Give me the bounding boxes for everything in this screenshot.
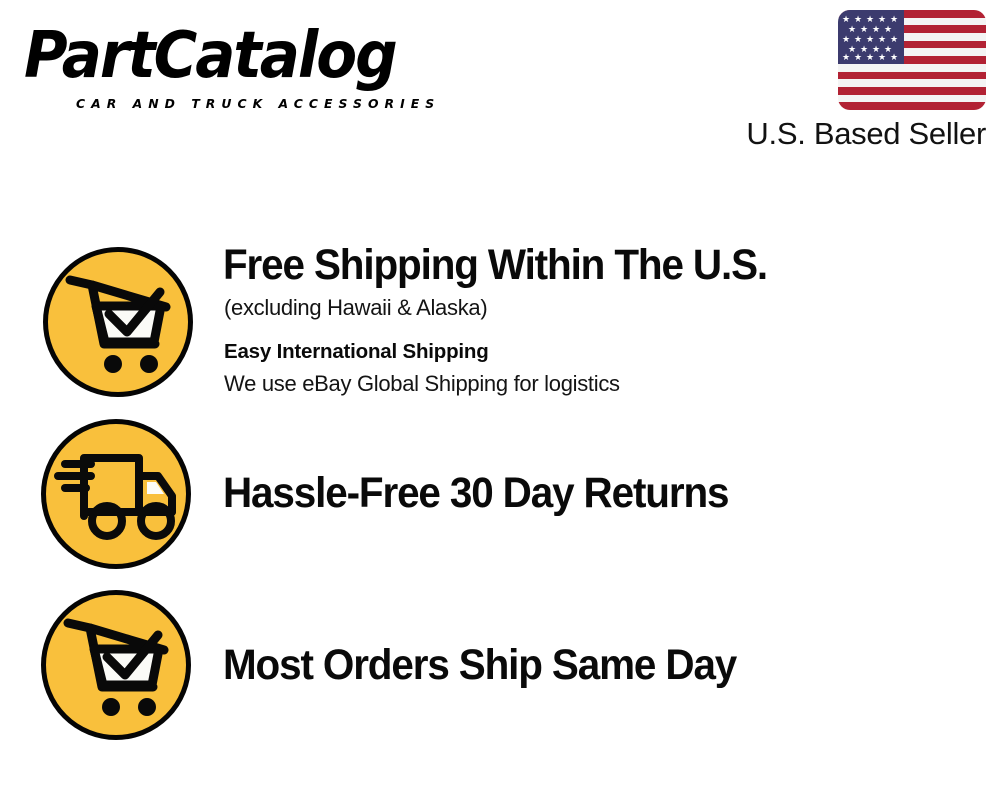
delivery-truck-icon: [41, 419, 191, 569]
feature-subtitle: Easy International Shipping: [224, 337, 489, 367]
feature-row: Hassle-Free 30 Day Returns: [0, 412, 1000, 578]
flag-stripe: [838, 79, 986, 87]
brand-header: PartCatalog CAR AND TRUCK ACCESSORIES ★ …: [0, 0, 1000, 170]
flag-stripe: [838, 87, 986, 95]
feature-title: Most Orders Ship Same Day: [223, 640, 736, 690]
logo-tagline: CAR AND TRUCK ACCESSORIES: [76, 96, 440, 111]
feature-row: Most Orders Ship Same Day: [0, 586, 1000, 746]
flag-stripe: [838, 72, 986, 80]
shopping-cart-check-icon: [41, 590, 191, 740]
flag-stripe: [838, 102, 986, 110]
feature-subtext: We use eBay Global Shipping for logistic…: [224, 369, 620, 399]
flag-stripe: [838, 95, 986, 103]
partcatalog-logo[interactable]: PartCatalog CAR AND TRUCK ACCESSORIES: [24, 22, 494, 114]
flag-stripe: [838, 64, 986, 72]
logo-wordmark: PartCatalog: [24, 22, 396, 90]
feature-title: Hassle-Free 30 Day Returns: [223, 468, 728, 518]
shopping-cart-check-icon: [43, 247, 193, 397]
feature-title: Free Shipping Within The U.S.: [223, 240, 767, 290]
us-flag-icon: ★ ★ ★ ★ ★ ★ ★ ★ ★ ★ ★ ★ ★ ★ ★ ★ ★ ★ ★ ★ …: [838, 10, 986, 110]
flag-canton: ★ ★ ★ ★ ★ ★ ★ ★ ★ ★ ★ ★ ★ ★ ★ ★ ★ ★ ★ ★ …: [838, 10, 904, 64]
feature-note: (excluding Hawaii & Alaska): [224, 293, 487, 323]
feature-row: Free Shipping Within The U.S. (excluding…: [0, 237, 1000, 409]
us-based-seller-label: U.S. Based Seller: [600, 116, 986, 152]
